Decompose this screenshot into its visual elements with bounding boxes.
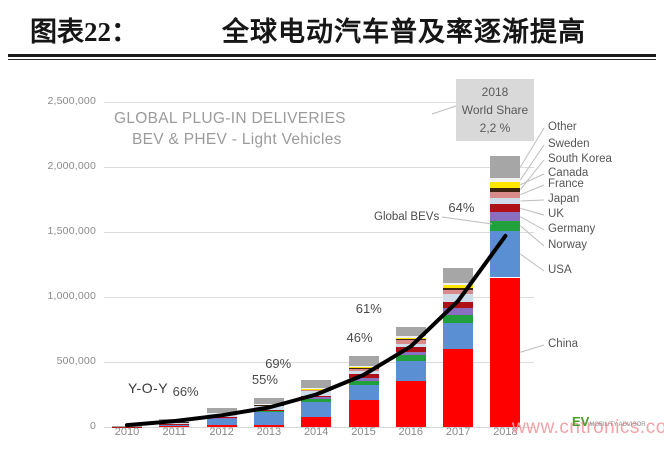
header-rule-thick (8, 54, 656, 57)
chart-area: GLOBAL PLUG-IN DELIVERIES BEV & PHEV - L… (0, 66, 664, 462)
header-rule-thin (8, 59, 656, 60)
chart-overlay-svg (0, 66, 664, 462)
legend-leader-china (520, 345, 544, 352)
legend-leader-japan (520, 200, 544, 201)
global-bevs-leader (442, 217, 492, 224)
world-share-leader (432, 106, 456, 114)
watermark-logo: EVMOBILITY ADVISOR (572, 414, 646, 429)
legend-leader-norway (520, 226, 544, 246)
legend-leader-other (520, 128, 544, 167)
watermark-logo-sub: MOBILITY ADVISOR (589, 422, 645, 428)
legend-leader-germany (520, 217, 544, 230)
figure-number: 图表22： (30, 10, 138, 49)
legend-leader-france (520, 185, 544, 195)
legend-leader-lines (520, 128, 544, 352)
figure-header: 图表22： 全球电动汽车普及率逐渐提高 (0, 0, 664, 66)
watermark-logo-text: EV (572, 414, 589, 429)
figure-title: 全球电动汽车普及率逐渐提高 (222, 10, 586, 49)
global-bevs-line (127, 236, 505, 425)
legend-leader-usa (520, 254, 544, 271)
legend-leader-uk (520, 208, 544, 215)
